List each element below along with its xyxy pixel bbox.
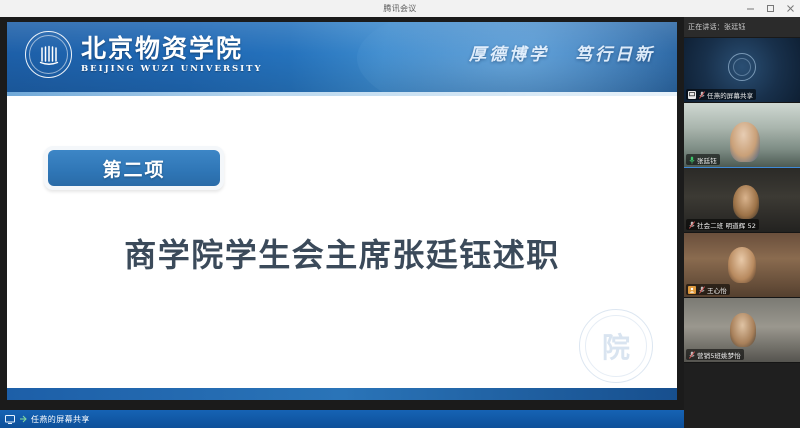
item-tag-box: 第二项 <box>44 146 224 190</box>
screen-share-icon <box>688 91 696 99</box>
university-names: 北京物资学院 BEIJING WUZI UNIVERSITY <box>81 35 263 74</box>
tile-label: 王心怡 <box>686 284 730 295</box>
university-name-en: BEIJING WUZI UNIVERSITY <box>81 64 263 74</box>
tile-name: 张廷钰 <box>697 155 717 165</box>
item-tag-inner: 第二项 <box>48 150 220 186</box>
participant-tile[interactable]: 营销5班姚梦怡 <box>684 298 800 363</box>
slide-footer-bar <box>7 388 677 400</box>
mic-muted-icon <box>698 91 705 99</box>
tile-label: 营销5班姚梦怡 <box>686 349 744 360</box>
tile-name: 任燕的屏幕共享 <box>707 90 753 100</box>
tile-name: 王心怡 <box>707 285 727 295</box>
university-logo-group: 北京物资学院 BEIJING WUZI UNIVERSITY <box>25 31 263 78</box>
user-avatar-icon <box>688 286 696 294</box>
shared-screen-area: 北京物资学院 BEIJING WUZI UNIVERSITY 厚德博学 笃行日新… <box>0 17 684 428</box>
share-arrow-icon <box>19 415 27 424</box>
university-emblem-icon <box>25 31 72 78</box>
slide-watermark-seal: 院 <box>579 309 653 383</box>
active-speaker-bar: 正在讲话：张廷钰 <box>684 17 800 38</box>
close-icon[interactable] <box>785 3 796 14</box>
motto-part-2: 笃行日新 <box>575 40 655 65</box>
shared-content-thumbnail <box>728 53 756 81</box>
slide-header-banner: 北京物资学院 BEIJING WUZI UNIVERSITY 厚德博学 笃行日新 <box>7 22 677 92</box>
share-status-text: 任燕的屏幕共享 <box>31 414 90 425</box>
tile-label: 张廷钰 <box>686 154 720 165</box>
active-speaker-label: 正在讲话：张廷钰 <box>688 22 746 32</box>
university-name-cn: 北京物资学院 <box>81 35 263 62</box>
minimize-icon[interactable] <box>745 3 756 14</box>
mic-active-icon <box>688 156 695 164</box>
tile-name: 营销5班姚梦怡 <box>697 350 741 360</box>
screen-share-status-bar: 任燕的屏幕共享 <box>0 410 684 428</box>
item-tag-label: 第二项 <box>102 155 165 182</box>
monitor-share-icon <box>5 415 15 424</box>
mic-muted-icon <box>688 351 695 359</box>
participant-tile[interactable]: 王心怡 <box>684 233 800 298</box>
maximize-icon[interactable] <box>765 3 776 14</box>
mic-muted-icon <box>688 221 695 229</box>
window-controls <box>745 0 796 17</box>
university-motto: 厚德博学 笃行日新 <box>469 40 655 65</box>
participant-tiles: 任燕的屏幕共享 张廷钰 <box>684 38 800 428</box>
tile-label: 任燕的屏幕共享 <box>686 89 756 100</box>
presentation-slide: 北京物资学院 BEIJING WUZI UNIVERSITY 厚德博学 笃行日新… <box>7 22 677 400</box>
participant-sidebar: 正在讲话：张廷钰 <box>684 17 800 428</box>
participant-tile[interactable]: 任燕的屏幕共享 <box>684 38 800 103</box>
tile-label: 社会二班 明道辉 52 <box>686 219 759 230</box>
tencent-meeting-window: 腾讯会议 <box>0 0 800 428</box>
banner-underline <box>7 92 677 96</box>
tile-name: 社会二班 明道辉 52 <box>697 220 756 230</box>
window-title: 腾讯会议 <box>383 3 416 14</box>
mic-muted-icon <box>698 286 705 294</box>
window-titlebar: 腾讯会议 <box>0 0 800 18</box>
slide-heading: 商学院学生会主席张廷钰述职 <box>7 230 677 276</box>
motto-part-1: 厚德博学 <box>469 40 549 65</box>
participant-tile[interactable]: 张廷钰 <box>684 103 800 168</box>
participant-tile[interactable]: 社会二班 明道辉 52 <box>684 168 800 233</box>
